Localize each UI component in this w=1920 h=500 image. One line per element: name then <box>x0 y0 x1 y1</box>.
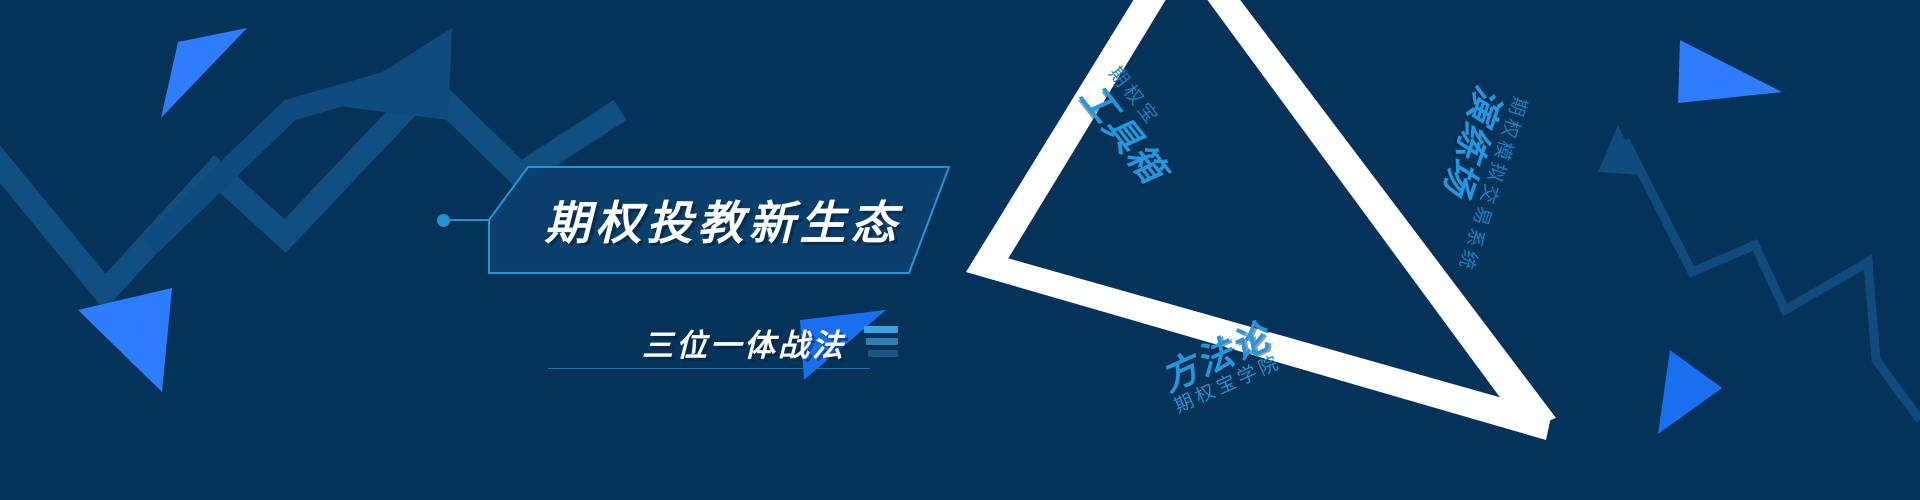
subtitle-bars-icon <box>864 326 898 359</box>
subtitle-text: 三位一体战法 <box>642 320 846 365</box>
background-decorations <box>0 0 1920 500</box>
subtitle-row: 三位一体战法 <box>642 320 898 365</box>
subtitle-bar-3 <box>868 350 898 357</box>
subtitle-bar-1 <box>864 326 898 333</box>
page-title: 期权投教新生态 <box>488 166 950 274</box>
promo-banner: 期权投教新生态 三位一体战法 期权宝 工具箱 期权模拟交易系统 演练场 方法论 … <box>0 0 1920 500</box>
title-plate: 期权投教新生态 <box>488 166 950 274</box>
subtitle-divider <box>548 368 870 369</box>
title-connector-line <box>448 219 488 221</box>
subtitle-bar-2 <box>866 338 898 345</box>
